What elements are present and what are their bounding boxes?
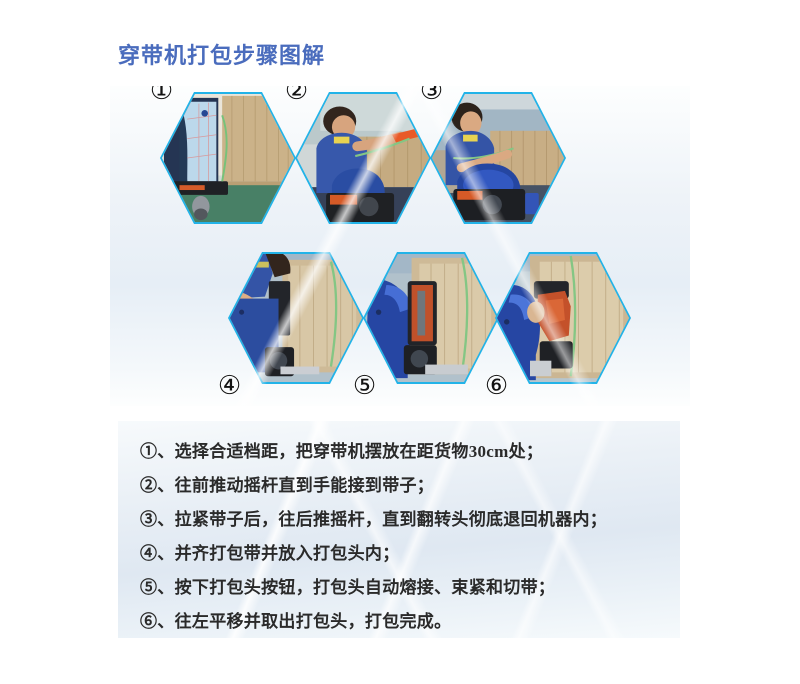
step-badge-4: ④ (216, 373, 243, 400)
step-badge-1: ① (148, 86, 175, 105)
step-badge-6: ⑥ (483, 373, 510, 400)
step-text-item: ①、选择合适档距，把穿带机摆放在距货物30cm处； (140, 435, 680, 469)
hex-image-4 (230, 252, 362, 384)
hex-image-1 (162, 92, 294, 224)
step-text-item: ②、往前推动摇杆直到手能接到带子； (140, 469, 680, 503)
step-badge-2: ② (283, 86, 310, 105)
step-badge-5: ⑤ (351, 373, 378, 400)
step-text-item: ⑤、按下打包头按钮，打包头自动熔接、束紧和切带； (140, 571, 680, 605)
hex-photo-step-5[interactable]: ⑤ (363, 250, 499, 386)
step-text-item: ⑥、往左平移并取出打包头，打包完成。 (140, 605, 680, 638)
hex-photo-step-2[interactable]: ② (295, 90, 431, 226)
hex-image-5 (365, 252, 497, 384)
hex-image-6 (497, 252, 629, 384)
hex-photo-step-3[interactable]: ③ (430, 90, 566, 226)
hex-photo-step-1[interactable]: ① (160, 90, 296, 226)
hex-photo-step-6[interactable]: ⑥ (495, 250, 631, 386)
step-text-item: ④、并齐打包带并放入打包头内； (140, 537, 680, 571)
gallery-panel: ① (110, 86, 690, 406)
step-badge-3: ③ (418, 86, 445, 105)
steps-text-panel: ①、选择合适档距，把穿带机摆放在距货物30cm处； ②、往前推动摇杆直到手能接到… (118, 421, 680, 638)
page-title: 穿带机打包步骤图解 (118, 38, 325, 70)
hex-image-3 (432, 92, 564, 224)
steps-list: ①、选择合适档距，把穿带机摆放在距货物30cm处； ②、往前推动摇杆直到手能接到… (118, 421, 680, 638)
hex-image-2 (297, 92, 429, 224)
hexagon-photo-grid: ① (110, 86, 690, 406)
hex-photo-step-4[interactable]: ④ (228, 250, 364, 386)
step-text-item: ③、拉紧带子后，往后推摇杆，直到翻转头彻底退回机器内； (140, 503, 680, 537)
